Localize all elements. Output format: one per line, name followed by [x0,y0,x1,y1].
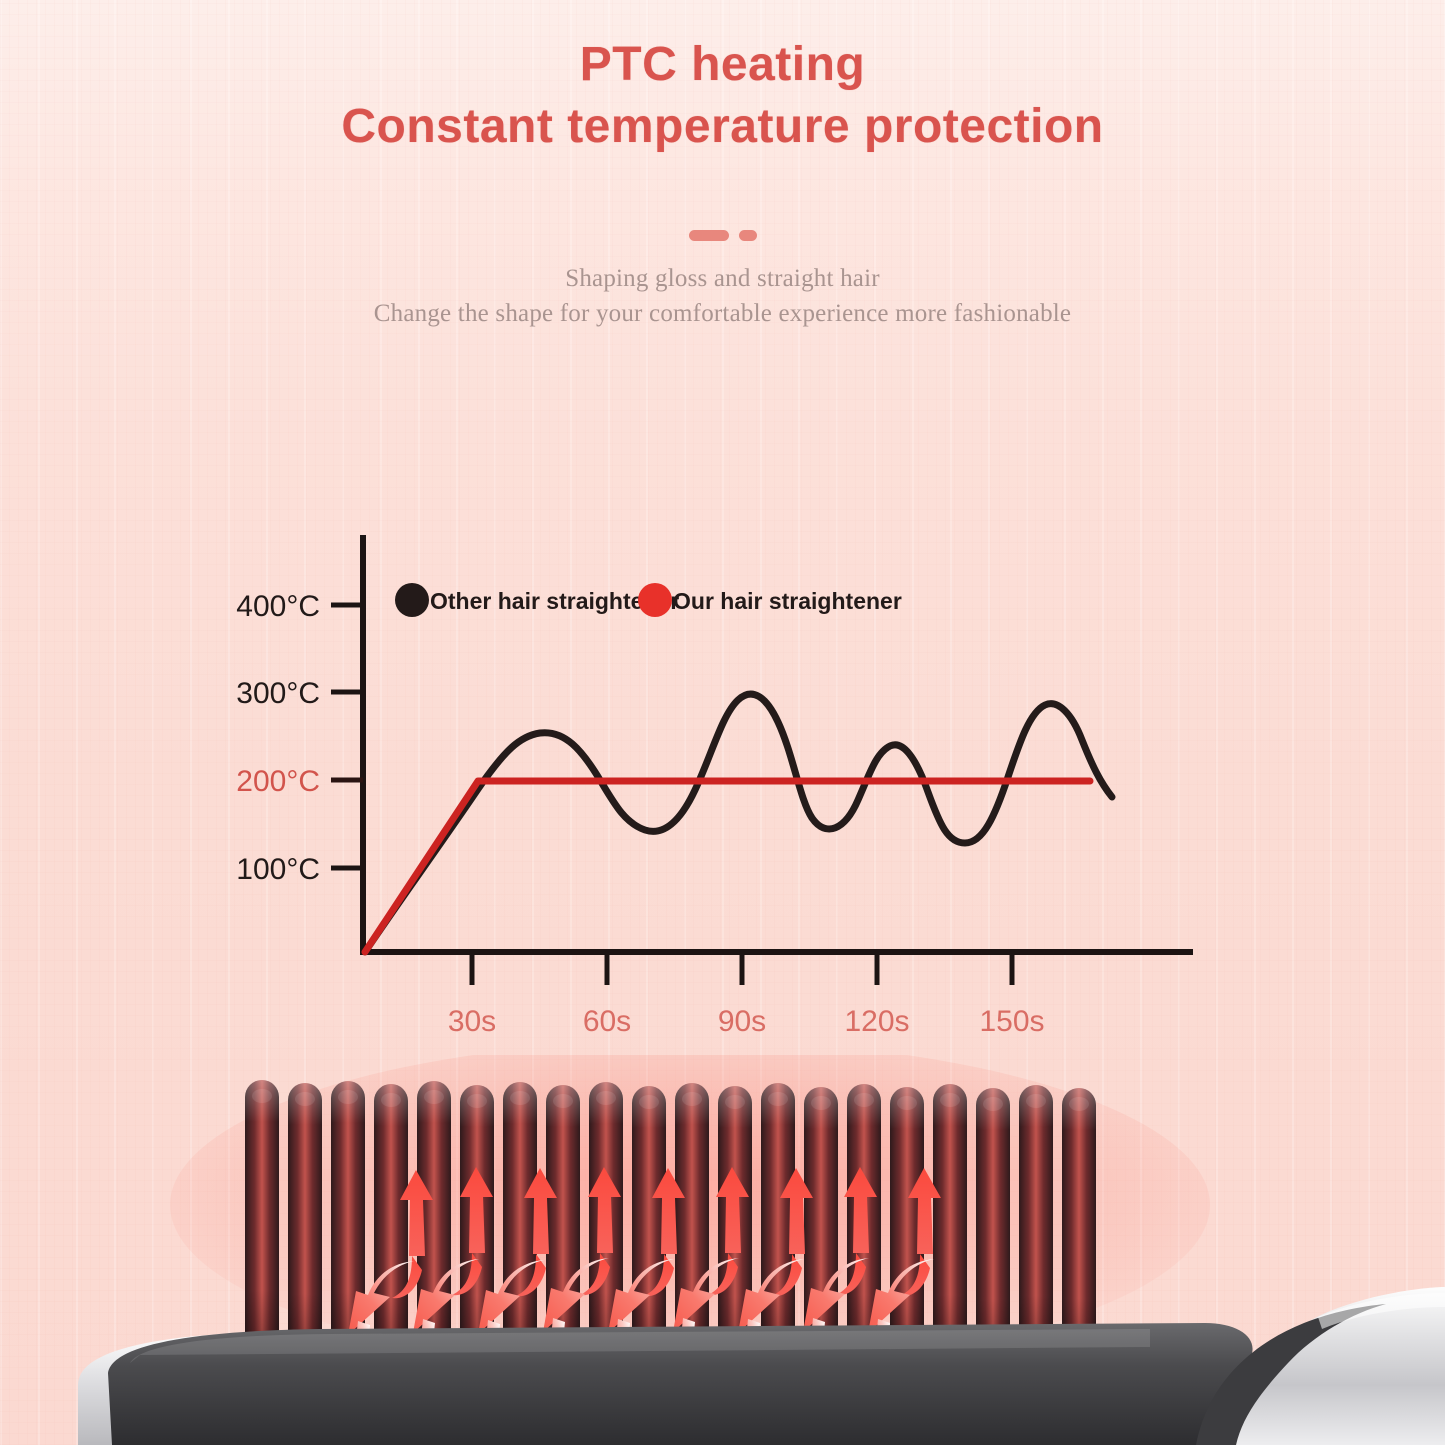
y-tick-label-400: 400°C [236,590,320,623]
y-axis-ticks [331,605,363,868]
x-tick-label-90s: 90s [718,1005,766,1038]
x-tick-label-60s: 60s [583,1005,631,1038]
temperature-chart: 400°C 300°C 200°C 100°C 30s 60s 90s 120s… [0,500,1445,1060]
series-other-hair-straightener [365,694,1112,952]
product-illustration [0,1055,1445,1445]
y-tick-label-100: 100°C [236,853,320,886]
y-axis-labels: 400°C 300°C 200°C 100°C [236,590,320,886]
subtitle-line-2: Change the shape for your comfortable ex… [0,297,1445,332]
legend-marker-other-icon [395,583,429,617]
chart-legend: Other hair straightener Our hair straigh… [395,583,902,617]
series-our-hair-straightener [365,781,1090,952]
x-tick-label-150s: 150s [979,1005,1044,1038]
y-tick-label-300: 300°C [236,677,320,710]
headline-primary: PTC heating [0,38,1445,92]
subtitle-block: Shaping gloss and straight hair Change t… [0,262,1445,331]
dash-short-icon [739,230,757,241]
dash-ornament [0,230,1445,241]
subtitle-line-1: Shaping gloss and straight hair [0,262,1445,297]
x-axis-ticks [472,952,1012,985]
page-background: PTC heating Constant temperature protect… [0,0,1445,1445]
legend-label-ours: Our hair straightener [673,588,902,614]
heat-arrows-up [392,1167,941,1298]
legend-marker-ours-icon [638,583,672,617]
headline-secondary: Constant temperature protection [0,100,1445,154]
x-tick-label-30s: 30s [448,1005,496,1038]
x-axis-labels: 30s 60s 90s 120s 150s [448,1005,1045,1038]
y-tick-label-200: 200°C [236,765,320,798]
headline-block: PTC heating Constant temperature protect… [0,38,1445,154]
x-tick-label-120s: 120s [844,1005,909,1038]
dash-long-icon [689,230,729,241]
